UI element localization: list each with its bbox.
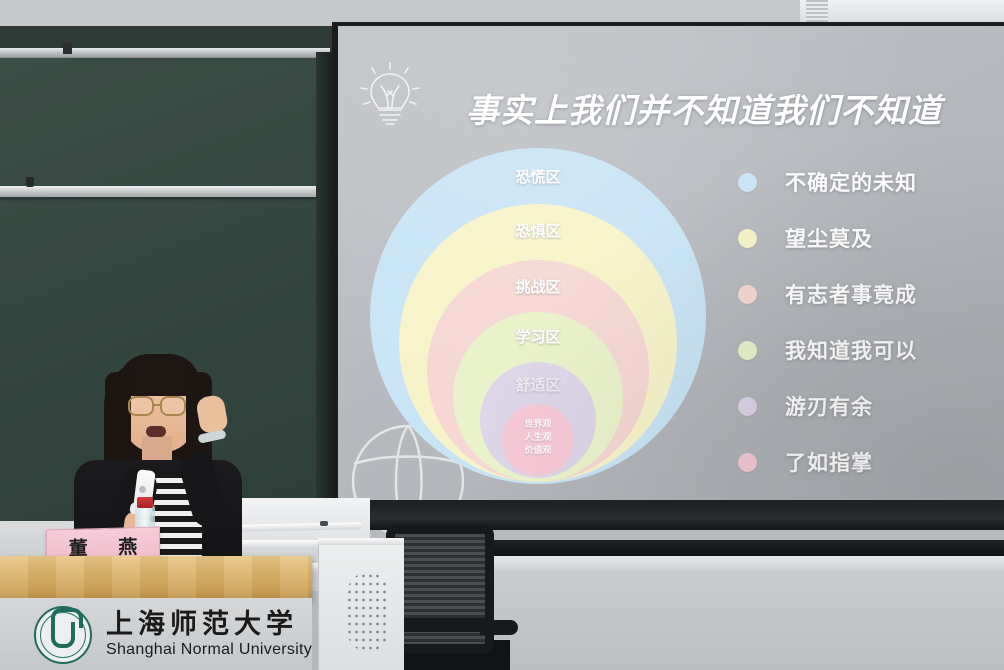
- legend-item: 望尘莫及: [738, 210, 988, 266]
- university-seal-logo: [34, 606, 92, 664]
- legend-dot-5: [738, 397, 757, 416]
- legend-label-3: 有志者事竟成: [785, 279, 917, 309]
- water-bottle-cap: [137, 497, 153, 508]
- zone-label-4: 学习区: [453, 326, 623, 347]
- legend-item: 不确定的未知: [738, 154, 988, 210]
- podium-wood-top: [0, 556, 312, 600]
- chalkboard-top-rail: [0, 48, 330, 58]
- office-chair-seat: [392, 618, 494, 632]
- legend-dot-3: [738, 285, 757, 304]
- lecture-hall-photo: 事实上我们并不知道我们不知道 恐慌区 恐惧区 挑战区 学习区: [0, 0, 1004, 670]
- concentric-zone-diagram: 恐慌区 恐惧区 挑战区 学习区 舒适区 世界观 人生观 价值观: [368, 148, 708, 496]
- seal-monogram: [51, 622, 75, 648]
- legend-label-6: 了如指掌: [785, 447, 873, 477]
- lightbulb-icon: [358, 58, 422, 132]
- chalkboard-knob: [63, 43, 72, 54]
- microphone-stand-clip: [320, 521, 328, 526]
- core-line-2: 人生观: [488, 431, 588, 444]
- presentation-slide: 事实上我们并不知道我们不知道 恐慌区 恐惧区 挑战区 学习区: [338, 26, 1004, 500]
- university-branding: 上海师范大学 Shanghai Normal University: [34, 606, 312, 664]
- legend-label-4: 我知道我可以: [785, 335, 917, 365]
- zone-label-5: 舒适区: [480, 374, 596, 395]
- university-name-cn: 上海师范大学: [106, 610, 312, 640]
- core-line-3: 价值观: [488, 444, 588, 457]
- legend-dot-1: [738, 173, 757, 192]
- slide-legend: 不确定的未知 望尘莫及 有志者事竟成 我知道我可以 游刃有余 了如指掌: [738, 154, 988, 490]
- eyeglasses-left-lens: [128, 396, 154, 416]
- university-name-en: Shanghai Normal University: [106, 640, 312, 660]
- legend-dot-6: [738, 453, 757, 472]
- slide-title: 事实上我们并不知道我们不知道: [466, 84, 986, 132]
- zone-label-3: 挑战区: [427, 276, 649, 297]
- legend-dot-4: [738, 341, 757, 360]
- presenter-mouth: [146, 426, 166, 437]
- legend-item: 我知道我可以: [738, 322, 988, 378]
- legend-item: 了如指掌: [738, 434, 988, 490]
- chalk-tray-rail: [0, 186, 330, 197]
- speaker-cabinet-top: [318, 538, 404, 545]
- legend-dot-2: [738, 229, 757, 248]
- legend-label-2: 望尘莫及: [785, 223, 873, 253]
- legend-label-5: 游刃有余: [785, 391, 873, 421]
- speaker-grille: [346, 572, 390, 652]
- legend-item: 游刃有余: [738, 378, 988, 434]
- university-name-block: 上海师范大学 Shanghai Normal University: [106, 610, 312, 660]
- light-wall-rail: [480, 556, 1004, 572]
- zone-label-1: 恐慌区: [370, 166, 706, 187]
- core-line-1: 世界观: [488, 418, 588, 431]
- dark-wall-rail: [480, 540, 1004, 556]
- legend-item: 有志者事竟成: [738, 266, 988, 322]
- eyeglasses-right-lens: [160, 396, 186, 416]
- core-values-text: 世界观 人生观 价值观: [488, 418, 588, 457]
- office-chair-arm: [480, 620, 518, 635]
- presenter-raised-hand: [195, 394, 229, 434]
- chalk-tray-knob: [26, 177, 34, 187]
- eyeglasses-bridge: [154, 404, 160, 406]
- zone-label-2: 恐惧区: [399, 220, 677, 241]
- legend-label-1: 不确定的未知: [785, 167, 917, 197]
